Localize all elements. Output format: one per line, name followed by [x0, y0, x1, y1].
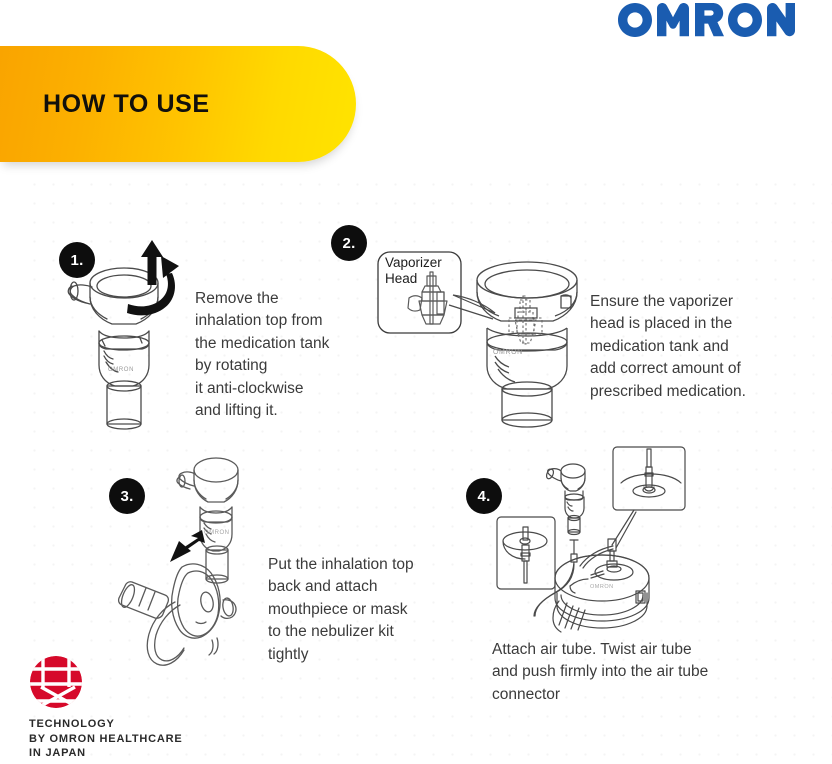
page-title: HOW TO USE: [43, 90, 210, 119]
svg-text:OMRON: OMRON: [493, 349, 523, 356]
omron-logo: [617, 2, 795, 38]
step-2-text: Ensure the vaporizer head is placed in t…: [590, 291, 825, 403]
japan-technology-emblem: [29, 655, 83, 709]
vaporizer-head-callout-label: Vaporizer Head: [385, 255, 442, 287]
compressor-air-tube-icon: OMRON: [495, 445, 705, 630]
step-badge-2: 2.: [331, 225, 367, 261]
step-4-text: Attach air tube. Twist air tube and push…: [492, 639, 742, 706]
svg-text:OMRON: OMRON: [108, 367, 134, 373]
footer: TECHNOLOGY BY OMRON HEALTHCARE IN JAPAN: [29, 655, 239, 761]
svg-text:OMRON: OMRON: [204, 530, 230, 536]
step-3-text: Put the inhalation top back and attach m…: [268, 554, 468, 666]
how-to-use-banner: HOW TO USE: [0, 46, 356, 162]
background-mask-left: [0, 176, 18, 764]
footer-text: TECHNOLOGY BY OMRON HEALTHCARE IN JAPAN: [29, 717, 239, 761]
svg-text:OMRON: OMRON: [590, 584, 614, 590]
step-1-text: Remove the inhalation top from the medic…: [195, 288, 375, 422]
nebulizer-kit-rotate-icon: OMRON: [62, 238, 207, 433]
mouthpiece-mask-attach-icon: OMRON: [108, 450, 278, 665]
